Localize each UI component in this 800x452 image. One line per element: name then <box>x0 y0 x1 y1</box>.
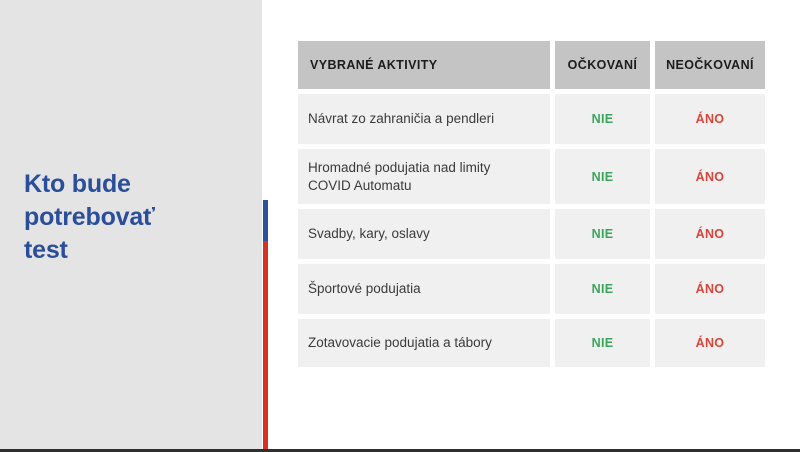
cell-unvaccinated: ÁNO <box>655 319 765 367</box>
cell-activity: Návrat zo zahraničia a pendleri <box>298 94 550 144</box>
cell-vaccinated: NIE <box>555 264 650 314</box>
slide-root: Kto bude potrebovať test VYBRANÉ AKTIVIT… <box>0 0 800 452</box>
header-cell-vaccinated: OČKOVANÍ <box>555 41 650 89</box>
activity-label: Hromadné podujatia nad limity COVID Auto… <box>308 159 490 195</box>
cell-unvaccinated: ÁNO <box>655 94 765 144</box>
value-unvaccinated: ÁNO <box>696 282 725 296</box>
cell-activity: Hromadné podujatia nad limity COVID Auto… <box>298 149 550 204</box>
cell-vaccinated: NIE <box>555 94 650 144</box>
table-row: Zotavovacie podujatia a tábory NIE ÁNO <box>298 319 765 367</box>
table-header-row: VYBRANÉ AKTIVITY OČKOVANÍ NEOČKOVANÍ <box>298 41 765 89</box>
cell-activity: Zotavovacie podujatia a tábory <box>298 319 550 367</box>
value-unvaccinated: ÁNO <box>696 336 725 350</box>
cell-activity: Športové podujatia <box>298 264 550 314</box>
activity-label: Zotavovacie podujatia a tábory <box>308 334 492 352</box>
table-row: Svadby, kary, oslavy NIE ÁNO <box>298 209 765 259</box>
header-cell-activity: VYBRANÉ AKTIVITY <box>298 41 550 89</box>
activity-label: Svadby, kary, oslavy <box>308 225 430 243</box>
table-row: Športové podujatia NIE ÁNO <box>298 264 765 314</box>
left-panel: Kto bude potrebovať test <box>0 0 262 449</box>
value-unvaccinated: ÁNO <box>696 112 725 126</box>
cell-unvaccinated: ÁNO <box>655 149 765 204</box>
header-cell-unvaccinated: NEOČKOVANÍ <box>655 41 765 89</box>
table-row: Návrat zo zahraničia a pendleri NIE ÁNO <box>298 94 765 144</box>
cell-vaccinated: NIE <box>555 209 650 259</box>
header-label-activity: VYBRANÉ AKTIVITY <box>310 58 437 72</box>
page-title: Kto bude potrebovať test <box>24 168 244 267</box>
activity-label: Športové podujatia <box>308 280 421 298</box>
value-vaccinated: NIE <box>592 227 614 241</box>
accent-bar-blue <box>263 200 268 241</box>
value-vaccinated: NIE <box>592 112 614 126</box>
value-unvaccinated: ÁNO <box>696 170 725 184</box>
header-label-unvaccinated: NEOČKOVANÍ <box>666 58 754 72</box>
value-vaccinated: NIE <box>592 336 614 350</box>
value-unvaccinated: ÁNO <box>696 227 725 241</box>
activities-table: VYBRANÉ AKTIVITY OČKOVANÍ NEOČKOVANÍ Náv… <box>298 41 765 367</box>
value-vaccinated: NIE <box>592 170 614 184</box>
value-vaccinated: NIE <box>592 282 614 296</box>
table-row: Hromadné podujatia nad limity COVID Auto… <box>298 149 765 204</box>
cell-vaccinated: NIE <box>555 149 650 204</box>
cell-unvaccinated: ÁNO <box>655 209 765 259</box>
activity-label: Návrat zo zahraničia a pendleri <box>308 110 494 128</box>
header-label-vaccinated: OČKOVANÍ <box>568 58 638 72</box>
cell-vaccinated: NIE <box>555 319 650 367</box>
cell-unvaccinated: ÁNO <box>655 264 765 314</box>
cell-activity: Svadby, kary, oslavy <box>298 209 550 259</box>
